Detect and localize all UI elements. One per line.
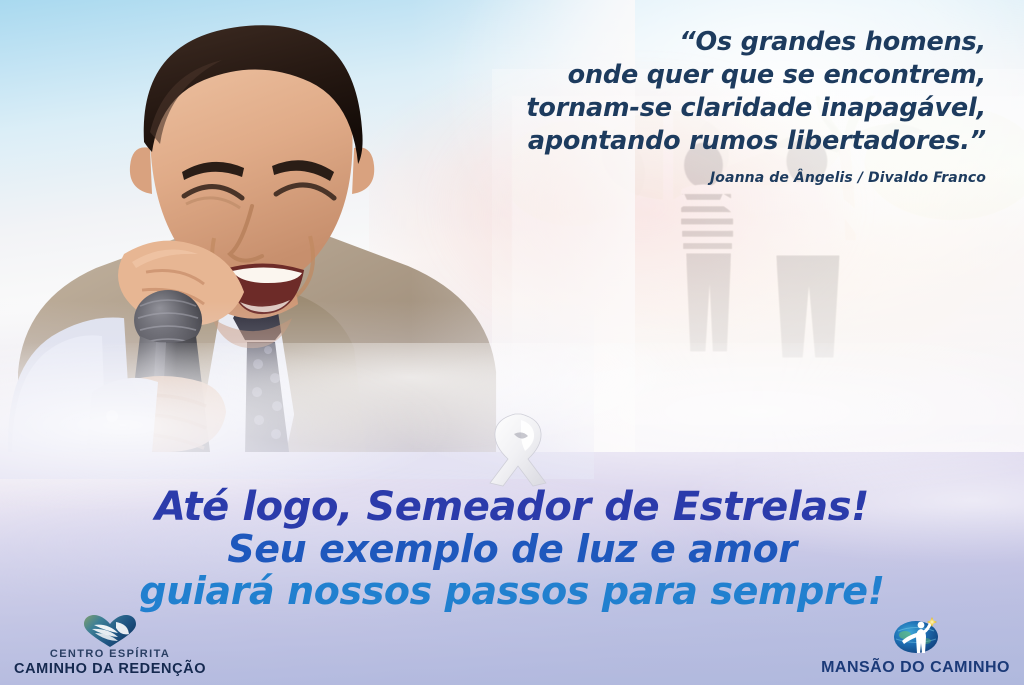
quote-line-2: onde quer que se encontrem,	[416, 59, 986, 92]
headline-block: Até logo, Semeador de Estrelas! Seu exem…	[0, 486, 1024, 612]
quote-block: “Os grandes homens, onde quer que se enc…	[416, 26, 986, 186]
headline-line-2: Seu exemplo de luz e amor	[0, 528, 1024, 570]
white-mourning-ribbon-icon	[484, 408, 558, 488]
logo-centro-espirita-caminho-da-redencao: CENTRO ESPÍRITA CAMINHO DA REDENÇÃO	[14, 614, 206, 677]
logo-mansao-do-caminho: MANSÃO DO CAMINHO	[821, 615, 1010, 677]
logo-right-line-1: MANSÃO DO CAMINHO	[821, 659, 1010, 677]
headline-line-3: guiará nossos passos para sempre!	[0, 570, 1024, 612]
quote-line-3: tornam-se claridade inapagável,	[416, 92, 986, 125]
globe-figure-star-icon	[891, 615, 941, 657]
logo-left-text: CENTRO ESPÍRITA CAMINHO DA REDENÇÃO	[14, 648, 206, 677]
headline-line-1: Até logo, Semeador de Estrelas!	[0, 486, 1024, 528]
quote-attribution: Joanna de Ângelis / Divaldo Franco	[416, 170, 986, 186]
memorial-poster: “Os grandes homens, onde quer que se enc…	[0, 0, 1024, 685]
quote-line-4: apontando rumos libertadores.”	[416, 125, 986, 158]
logo-left-line-2: CAMINHO DA REDENÇÃO	[14, 661, 206, 677]
logo-left-line-1: CENTRO ESPÍRITA	[14, 648, 206, 660]
quote-line-1: “Os grandes homens,	[416, 26, 986, 59]
heart-hands-icon	[82, 614, 138, 648]
